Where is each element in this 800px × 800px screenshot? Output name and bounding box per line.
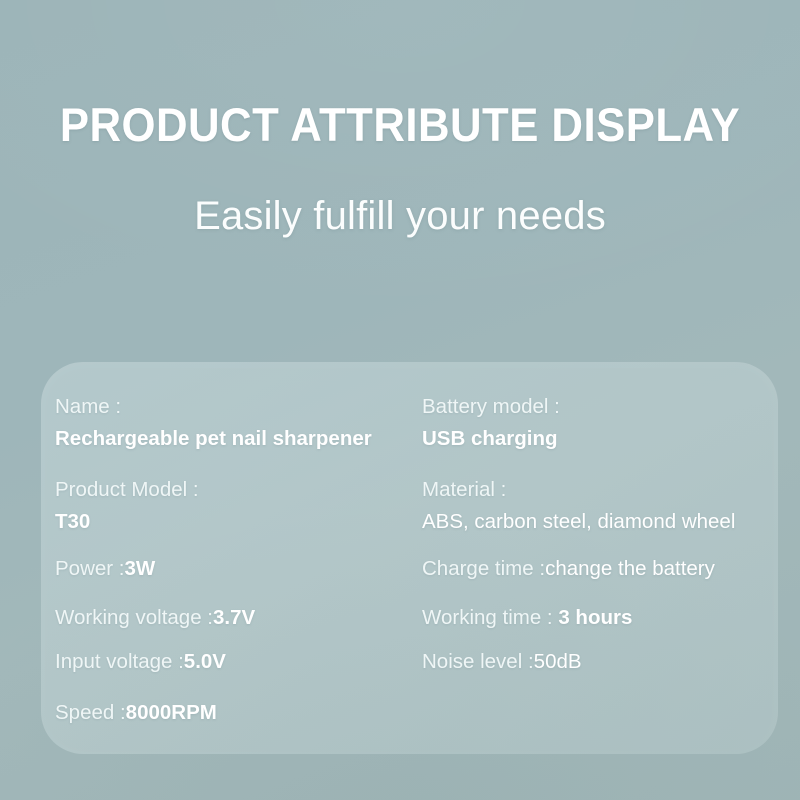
spec-value-charge-time: change the battery xyxy=(545,557,715,580)
spec-value-speed: 8000RPM xyxy=(126,701,217,724)
spec-label-material: Material : xyxy=(422,478,735,502)
product-attribute-banner: PRODUCT ATTRIBUTE DISPLAY Easily fulfill… xyxy=(0,0,800,800)
spec-row-battery-model: Battery model : USB charging xyxy=(422,395,560,451)
spec-row-working-voltage: Working voltage :3.7V xyxy=(55,606,255,630)
spec-label-working-time: Working time : xyxy=(422,606,553,629)
spec-label-input-voltage: Input voltage : xyxy=(55,650,184,673)
spec-row-power: Power :3W xyxy=(55,557,155,581)
spec-label-charge-time: Charge time : xyxy=(422,557,545,580)
spec-row-input-voltage: Input voltage :5.0V xyxy=(55,650,226,674)
banner-headings: PRODUCT ATTRIBUTE DISPLAY Easily fulfill… xyxy=(0,0,800,236)
spec-label-name: Name : xyxy=(55,395,372,419)
page-title: PRODUCT ATTRIBUTE DISPLAY xyxy=(28,0,772,148)
spec-row-product-model: Product Model : T30 xyxy=(55,478,199,534)
spec-value-product-model: T30 xyxy=(55,510,199,534)
spec-row-speed: Speed :8000RPM xyxy=(55,701,217,725)
spec-row-working-time: Working time : 3 hours xyxy=(422,606,632,630)
spec-row-name: Name : Rechargeable pet nail sharpener xyxy=(55,395,372,451)
spec-value-battery-model: USB charging xyxy=(422,427,560,451)
spec-value-noise-level: 50dB xyxy=(534,650,582,673)
spec-row-noise-level: Noise level :50dB xyxy=(422,650,582,674)
spec-label-speed: Speed : xyxy=(55,701,126,724)
spec-value-material: ABS, carbon steel, diamond wheel xyxy=(422,510,735,534)
page-subtitle: Easily fulfill your needs xyxy=(0,148,800,236)
spec-label-noise-level: Noise level : xyxy=(422,650,534,673)
spec-label-product-model: Product Model : xyxy=(55,478,199,502)
specification-card: Name : Rechargeable pet nail sharpener P… xyxy=(41,362,778,754)
spec-value-working-voltage: 3.7V xyxy=(213,606,255,629)
spec-value-input-voltage: 5.0V xyxy=(184,650,226,673)
spec-value-working-time: 3 hours xyxy=(553,606,633,629)
spec-row-material: Material : ABS, carbon steel, diamond wh… xyxy=(422,478,735,534)
spec-value-name: Rechargeable pet nail sharpener xyxy=(55,427,372,451)
spec-label-battery-model: Battery model : xyxy=(422,395,560,419)
spec-label-working-voltage: Working voltage : xyxy=(55,606,213,629)
spec-label-power: Power : xyxy=(55,557,125,580)
spec-value-power: 3W xyxy=(125,557,156,580)
spec-row-charge-time: Charge time :change the battery xyxy=(422,557,715,581)
